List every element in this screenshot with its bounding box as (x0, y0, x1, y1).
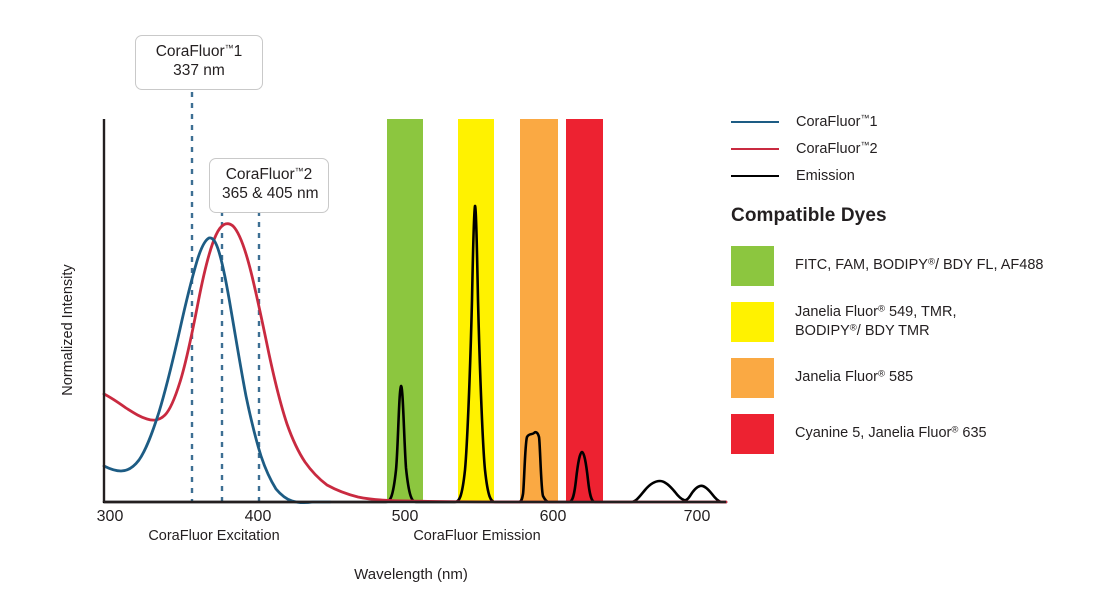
callout-corafluor1: CoraFluor™1 337 nm (135, 35, 263, 90)
legend-label-corafluor2: CoraFluor™2 (796, 140, 878, 157)
dye-row-red: Cyanine 5, Janelia Fluor® 635 (731, 409, 1101, 459)
registered-symbol: ® (878, 303, 885, 314)
registered-symbol: ® (878, 369, 885, 380)
callout-corafluor2-line1: CoraFluor™2 (222, 166, 316, 185)
dye-label-green: FITC, FAM, BODIPY®/ BDY FL, AF488 (795, 256, 1043, 275)
x-tick-300: 300 (80, 508, 140, 526)
x-tick-700: 700 (667, 508, 727, 526)
dye-row-yellow: Janelia Fluor® 549, TMR, BODIPY®/ BDY TM… (731, 297, 1101, 347)
callout-corafluor2-line2: 365 & 405 nm (222, 185, 316, 204)
legend-line-swatch-corafluor1 (731, 121, 779, 123)
registered-symbol: ® (850, 322, 857, 333)
legend-panel: CoraFluor™1 CoraFluor™2 Emission Compati… (731, 108, 1101, 465)
dye-label-red: Cyanine 5, Janelia Fluor® 635 (795, 424, 987, 443)
legend-line-swatch-emission (731, 175, 779, 177)
dye-color-swatch-green (731, 246, 774, 286)
y-axis-title: Normalized Intensity (60, 240, 76, 420)
emission-band-red (566, 119, 603, 502)
emission-region-label: CoraFluor Emission (347, 528, 607, 544)
callout-corafluor1-line2: 337 nm (148, 62, 250, 81)
trademark-symbol: ™ (225, 43, 234, 53)
emission-band-yellow (458, 119, 494, 502)
dye-color-swatch-red (731, 414, 774, 454)
dye-row-green: FITC, FAM, BODIPY®/ BDY FL, AF488 (731, 241, 1101, 291)
fluorescence-spectra-figure: CoraFluor™1 337 nm CoraFluor™2 365 & 405… (0, 0, 1110, 612)
registered-symbol: ® (928, 257, 935, 268)
compatible-dyes-title: Compatible Dyes (731, 205, 1101, 227)
x-tick-400: 400 (228, 508, 288, 526)
legend-row-emission: Emission (731, 162, 1101, 189)
dye-label-orange: Janelia Fluor® 585 (795, 368, 913, 387)
emission-bands (387, 119, 603, 502)
dye-label-yellow: Janelia Fluor® 549, TMR, BODIPY®/ BDY TM… (795, 303, 956, 342)
legend-row-corafluor2: CoraFluor™2 (731, 135, 1101, 162)
dye-color-swatch-yellow (731, 302, 774, 342)
compatible-dyes-list: FITC, FAM, BODIPY®/ BDY FL, AF488 Janeli… (731, 241, 1101, 459)
corafluor1-excitation-curve (104, 238, 330, 503)
excitation-region-label: CoraFluor Excitation (84, 528, 344, 544)
callout-corafluor1-line1: CoraFluor™1 (148, 43, 250, 62)
legend-line-swatch-corafluor2 (731, 148, 779, 150)
x-tick-600: 600 (523, 508, 583, 526)
legend-label-corafluor1: CoraFluor™1 (796, 113, 878, 130)
dye-row-orange: Janelia Fluor® 585 (731, 353, 1101, 403)
trademark-symbol: ™ (295, 166, 304, 176)
x-axis-title: Wavelength (nm) (261, 566, 561, 583)
dye-color-swatch-orange (731, 358, 774, 398)
excitation-marker-lines (192, 92, 259, 502)
legend-row-corafluor1: CoraFluor™1 (731, 108, 1101, 135)
callout-corafluor2: CoraFluor™2 365 & 405 nm (209, 158, 329, 213)
x-tick-500: 500 (375, 508, 435, 526)
legend-label-emission: Emission (796, 168, 855, 184)
